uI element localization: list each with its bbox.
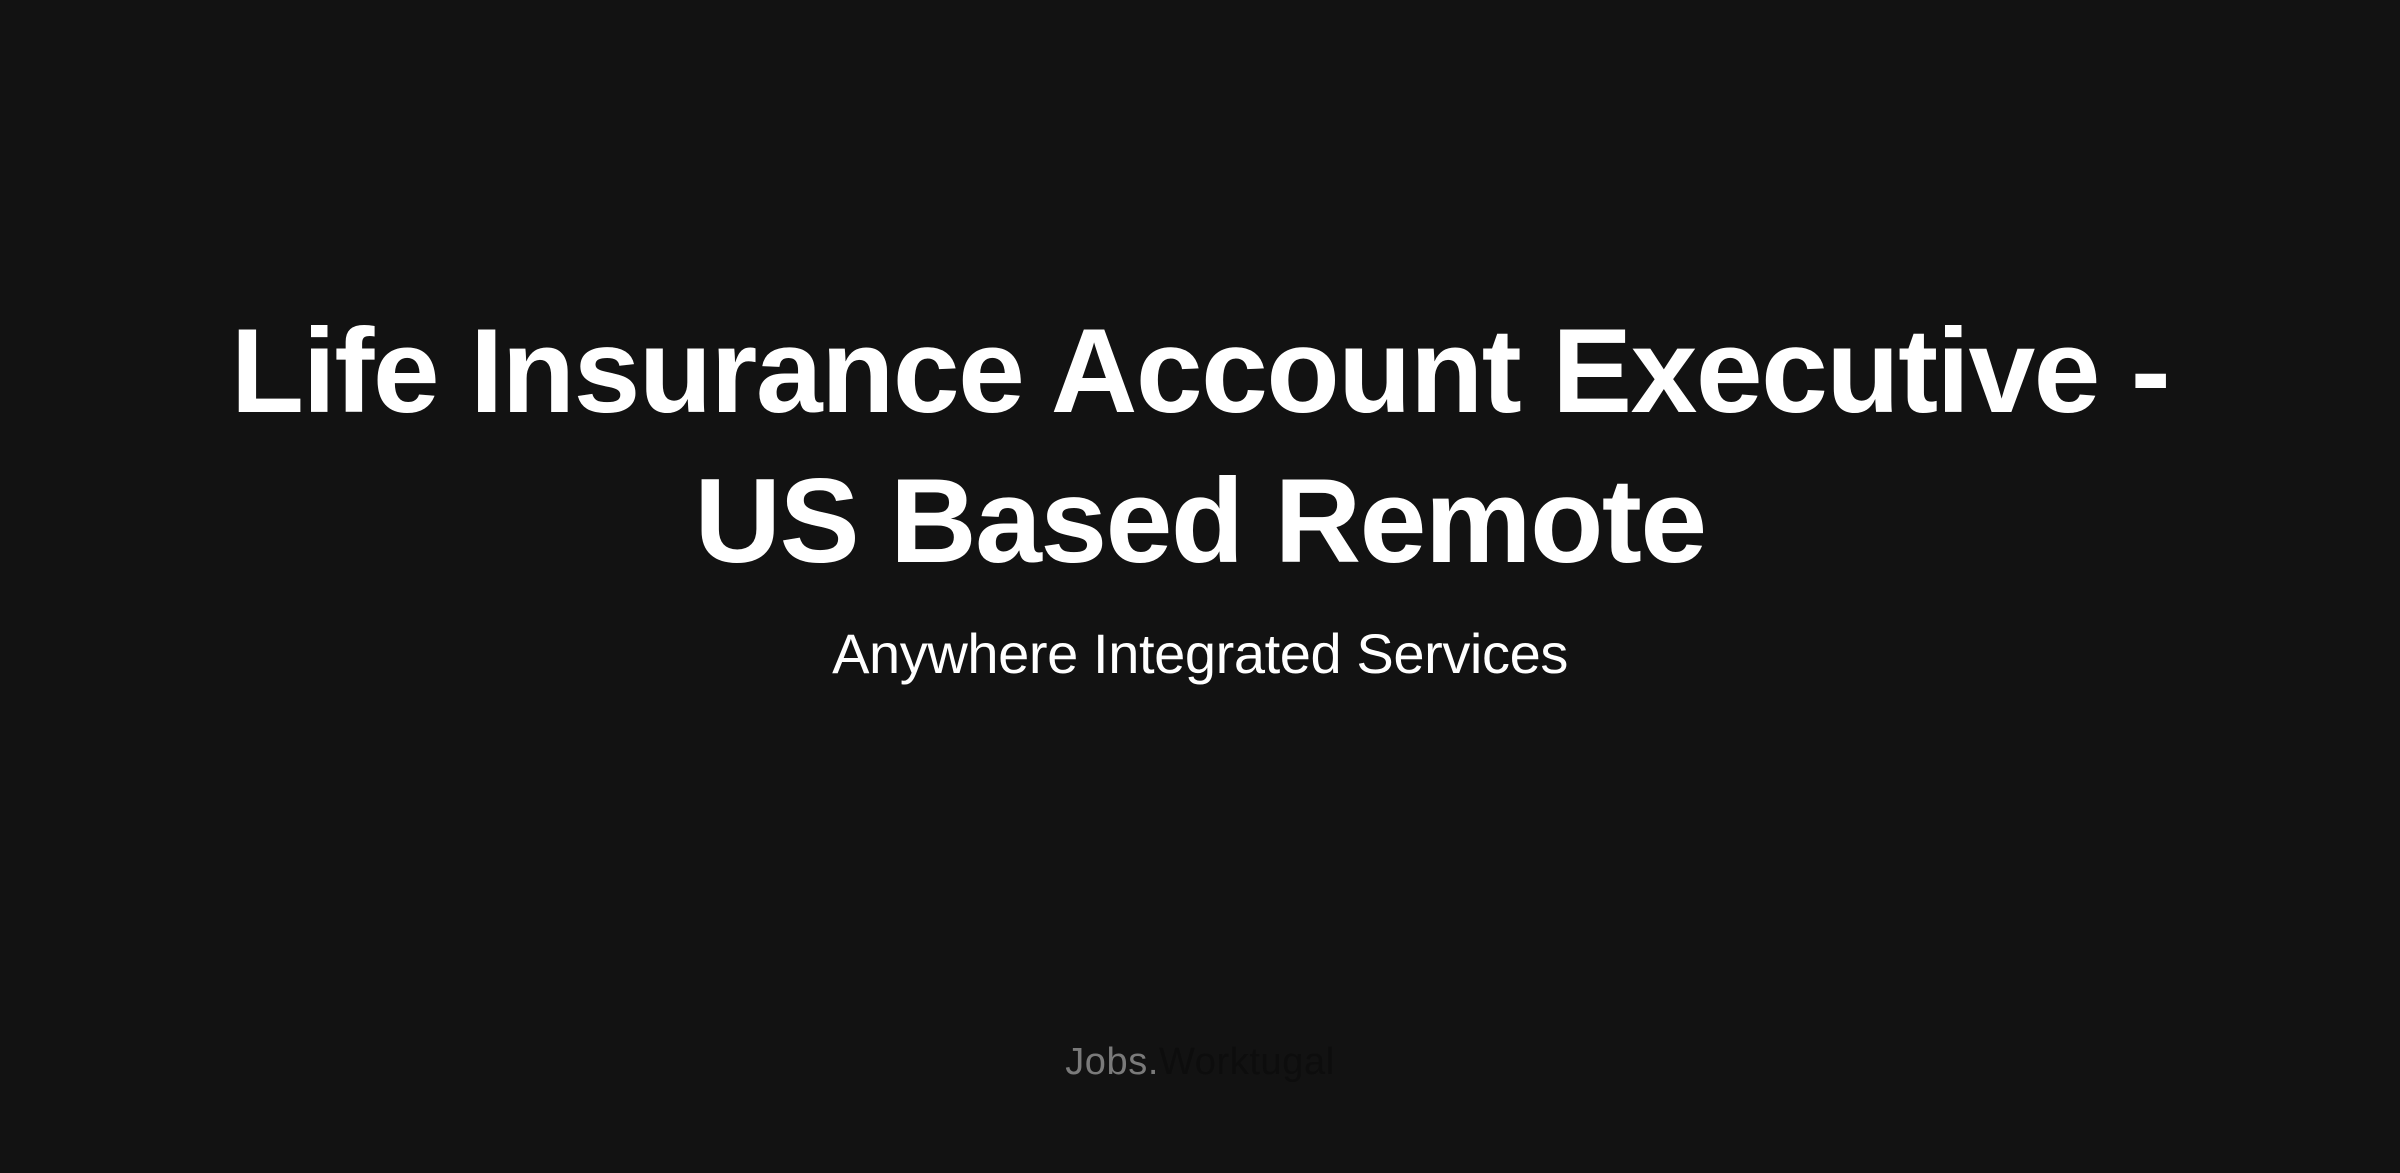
company-name: Anywhere Integrated Services — [0, 596, 2400, 690]
watermark-primary: Jobs. — [1065, 1041, 1159, 1083]
watermark-secondary: Worktugal — [1159, 1041, 1335, 1083]
watermark: Jobs.Worktugal — [0, 1040, 2400, 1084]
job-share-card: Life Insurance Account Executive - US Ba… — [0, 0, 2400, 1173]
card-content: Life Insurance Account Executive - US Ba… — [0, 0, 2400, 690]
page-title: Life Insurance Account Executive - US Ba… — [0, 296, 2400, 596]
